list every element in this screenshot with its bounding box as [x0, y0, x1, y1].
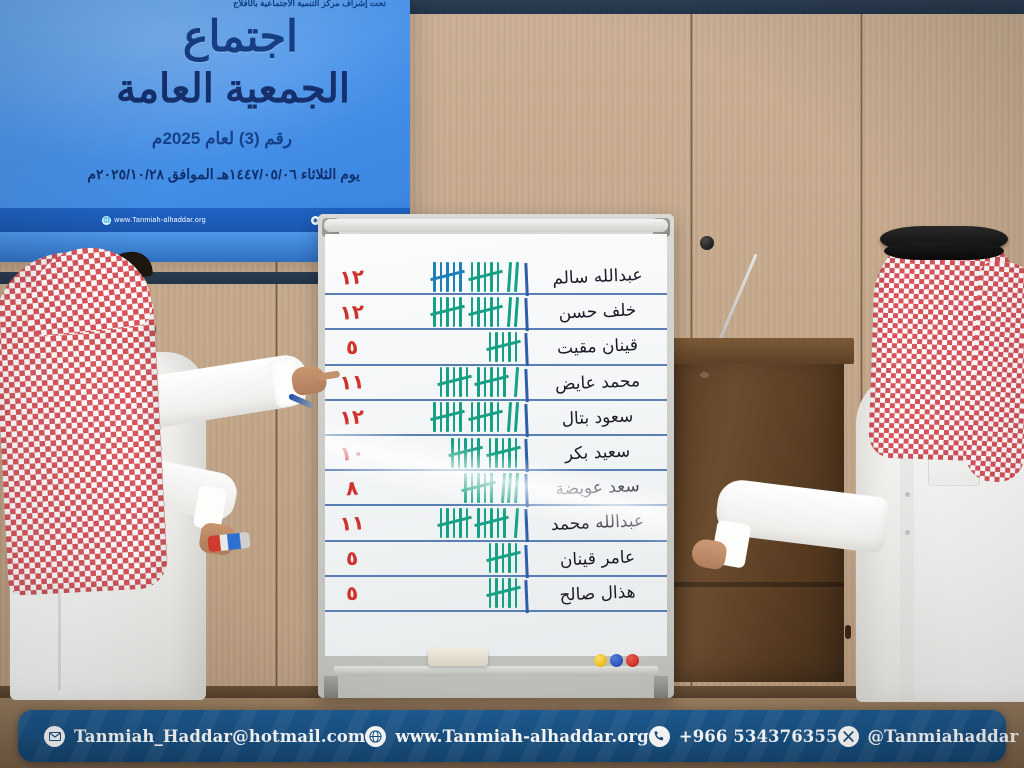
tally-person-name: سعود بتال [524, 398, 667, 437]
tally-stroke [503, 508, 506, 538]
tally-group-partial [508, 261, 517, 293]
tally-stroke [477, 262, 480, 292]
tally-count: ٨ [325, 474, 380, 502]
tally-row: ٥عامر قينان [325, 542, 667, 577]
tally-stroke [515, 543, 518, 573]
tally-stroke [484, 473, 487, 503]
blue-marker-cap[interactable] [610, 654, 623, 667]
tally-stroke [513, 297, 518, 327]
tally-person-name: خلف حسن [524, 292, 667, 331]
igal-headband [884, 242, 1004, 260]
tally-person-name: سعيد بكر [524, 433, 667, 472]
tally-person-name: عامر قينان [524, 539, 667, 578]
tally-stroke [489, 543, 492, 573]
tally-group-five [464, 472, 493, 504]
projection-subtitle: رقم (3) لعام 2025م [152, 129, 292, 149]
tally-stroke [464, 438, 467, 468]
tally-stroke [433, 297, 436, 327]
tally-count: ٥ [325, 580, 380, 608]
tally-group-partial [515, 366, 518, 398]
tally-row: ٥هذال صالح [325, 577, 667, 612]
tally-stroke [446, 402, 449, 432]
tally-stroke [477, 402, 480, 432]
tally-stroke [508, 438, 511, 468]
tally-stroke [497, 508, 500, 538]
tally-stroke [459, 297, 462, 327]
tally-stroke [507, 402, 512, 432]
tally-stroke [490, 402, 493, 432]
tally-count: ١٢ [325, 263, 380, 291]
tally-group-partial [515, 507, 518, 539]
yellow-marker-cap[interactable] [594, 654, 607, 667]
tally-group-five [440, 507, 469, 539]
tally-stroke [495, 332, 498, 362]
footer-contact-website[interactable]: www.Tanmiah-alhaddar.org [365, 726, 648, 747]
email-icon [44, 726, 65, 747]
tally-stroke [466, 367, 469, 397]
tally-stroke [513, 262, 518, 292]
tally-person-name: سعد عويضة [524, 468, 667, 507]
tally-stroke [515, 438, 518, 468]
tally-stroke [490, 297, 493, 327]
tally-stroke [489, 578, 492, 608]
tally-group-five [471, 296, 500, 328]
tally-person-name: عبدالله محمد [524, 503, 667, 542]
tally-stroke [513, 508, 518, 538]
globe-icon [365, 726, 386, 747]
tally-stroke [489, 438, 492, 468]
tally-group-five [433, 296, 462, 328]
tally-marks [379, 471, 525, 504]
tally-stroke [477, 473, 480, 503]
tally-stroke [508, 332, 511, 362]
tally-stroke [440, 367, 443, 397]
tally-stroke [453, 262, 456, 292]
podium-shelf [672, 582, 844, 587]
tally-stroke [502, 438, 505, 468]
podium-top [664, 338, 854, 364]
tally-stroke [471, 262, 474, 292]
tally-group-five [451, 437, 480, 469]
tally-stroke [477, 367, 480, 397]
whiteboard-marker-tray [334, 666, 658, 676]
tally-stroke [484, 297, 487, 327]
tally-group-five [433, 261, 462, 293]
tally-stroke [502, 578, 505, 608]
whiteboard: ١٢عبدالله سالم١٢خلف حسن٥قينان مقيت١١محمد… [318, 214, 674, 698]
tally-stroke [500, 473, 505, 503]
tally-stroke [495, 578, 498, 608]
tally-stroke [507, 473, 512, 503]
tally-stroke [513, 473, 518, 503]
tally-stroke [446, 508, 449, 538]
tally-stroke [471, 473, 474, 503]
tally-group-five [471, 401, 500, 433]
tally-stroke [464, 473, 467, 503]
tally-group-partial [508, 401, 517, 433]
tally-stroke [490, 262, 493, 292]
whiteboard-leg [324, 676, 338, 698]
tally-count: ٥ [325, 544, 380, 572]
tally-group-five [433, 401, 462, 433]
projection-contact-website: 🌐 www.Tanmiah-alhaddar.org [102, 216, 206, 225]
tally-stroke [503, 367, 506, 397]
tally-stroke [471, 402, 474, 432]
projection-title-line1: اجتماع [183, 12, 298, 62]
tally-group-partial [502, 472, 518, 504]
tally-stroke [477, 438, 480, 468]
footer-contact-x[interactable]: @Tanmiahaddar [838, 726, 1019, 747]
tally-table: ١٢عبدالله سالم١٢خلف حسن٥قينان مقيت١١محمد… [325, 260, 667, 612]
whiteboard-eraser[interactable] [428, 648, 488, 666]
tally-stroke [513, 367, 518, 397]
tally-group-five [489, 577, 518, 609]
tally-stroke [497, 297, 500, 327]
tally-count: ١٠ [325, 439, 380, 467]
tally-stroke [446, 262, 449, 292]
thobe-button [905, 530, 910, 535]
tally-stroke [459, 367, 462, 397]
thobe-button [905, 492, 910, 497]
meeting-room-photo: تحت إشراف مركز التنمية الاجتماعية بالأفل… [0, 0, 1024, 768]
tally-group-five [477, 366, 506, 398]
tally-group-five [477, 507, 506, 539]
tally-group-five [471, 261, 500, 293]
x-icon [838, 726, 859, 747]
tally-count: ١٢ [325, 404, 380, 432]
tally-stroke [484, 367, 487, 397]
tally-marks [379, 330, 525, 363]
footer-email-text: Tanmiah_Haddar@hotmail.com [74, 727, 365, 746]
tally-stroke [490, 508, 493, 538]
tally-stroke [497, 262, 500, 292]
projection-website-text: www.Tanmiah-alhaddar.org [114, 217, 206, 224]
tally-stroke [507, 262, 512, 292]
tally-stroke [490, 473, 493, 503]
microphone-icon [700, 236, 714, 250]
tally-marks [379, 506, 525, 539]
tally-stroke [508, 578, 511, 608]
tally-row: ١١عبدالله محمد [325, 506, 667, 541]
whiteboard-top-rail [324, 219, 668, 232]
tally-stroke [459, 262, 462, 292]
tally-count: ١٢ [325, 298, 380, 326]
footer-phone-text: +966 534376355 [679, 727, 838, 746]
tally-stroke [459, 402, 462, 432]
tally-count: ٥ [325, 333, 380, 361]
tally-marks [379, 577, 525, 610]
tally-stroke [502, 543, 505, 573]
whiteboard-surface: ١٢عبدالله سالم١٢خلف حسن٥قينان مقيت١١محمد… [325, 234, 667, 656]
tally-row: ١٢عبدالله سالم [325, 260, 667, 295]
tally-stroke [497, 367, 500, 397]
tally-marks [379, 542, 525, 575]
tally-stroke [495, 543, 498, 573]
tally-stroke [513, 402, 518, 432]
tally-row: ١٢سعود بتال [325, 401, 667, 436]
tally-stroke [477, 297, 480, 327]
tally-stroke [471, 297, 474, 327]
tally-group-five [489, 437, 518, 469]
tally-stroke [477, 508, 480, 538]
tally-stroke [440, 297, 443, 327]
tally-stroke [489, 332, 492, 362]
tally-marks [379, 260, 525, 293]
tally-stroke [484, 508, 487, 538]
globe-icon: 🌐 [102, 216, 111, 225]
tally-stroke [446, 297, 449, 327]
red-marker-cap[interactable] [626, 654, 639, 667]
tally-group-five [440, 366, 469, 398]
tally-marks [379, 436, 525, 469]
tally-row: ١٠سعيد بكر [325, 436, 667, 471]
contact-footer-bar: Tanmiah_Haddar@hotmail.com www.Tanmiah-a… [18, 710, 1006, 762]
tally-stroke [433, 262, 436, 292]
tally-stroke [440, 402, 443, 432]
tally-person-name: محمد عايض [524, 363, 667, 402]
podium-knob [700, 372, 709, 378]
tally-stroke [515, 332, 518, 362]
tally-stroke [459, 508, 462, 538]
footer-contact-phone[interactable]: +966 534376355 [649, 726, 838, 747]
tally-stroke [451, 438, 454, 468]
footer-contact-email[interactable]: Tanmiah_Haddar@hotmail.com [44, 726, 365, 747]
podium-lock [845, 625, 851, 639]
tally-group-five [489, 542, 518, 574]
tally-stroke [453, 402, 456, 432]
tally-stroke [466, 508, 469, 538]
tally-stroke [502, 332, 505, 362]
tally-stroke [471, 438, 474, 468]
tally-row: ٨سعد عويضة [325, 471, 667, 506]
tally-stroke [484, 402, 487, 432]
tally-stroke [497, 402, 500, 432]
footer-x-handle-text: @Tanmiahaddar [868, 727, 1019, 746]
footer-website-text: www.Tanmiah-alhaddar.org [395, 727, 648, 746]
tally-group-partial [508, 296, 517, 328]
tally-stroke [484, 262, 487, 292]
phone-icon [649, 726, 670, 747]
tally-stroke [508, 543, 511, 573]
tally-person-name: عبدالله سالم [524, 257, 667, 296]
tally-stroke [458, 438, 461, 468]
tally-stroke [440, 508, 443, 538]
tally-stroke [440, 262, 443, 292]
tally-stroke [515, 578, 518, 608]
projection-title-line2: الجمعية العامة [116, 66, 350, 112]
tally-marks [379, 366, 525, 399]
tally-stroke [453, 297, 456, 327]
tally-count: ١١ [325, 509, 380, 537]
projection-supervisor-line: تحت إشراف مركز التنمية الاجتماعية بالأفل… [233, 0, 386, 9]
tally-person-name: قينان مقيت [524, 327, 667, 366]
tally-stroke [433, 402, 436, 432]
tally-stroke [453, 367, 456, 397]
tally-row: ١١محمد عايض [325, 366, 667, 401]
tally-marks [379, 401, 525, 434]
tally-stroke [507, 297, 512, 327]
tally-stroke [453, 508, 456, 538]
tally-person-name: هذال صالح [524, 574, 667, 613]
tally-group-five [489, 331, 518, 363]
whiteboard-leg [654, 676, 668, 698]
tally-marks [379, 295, 525, 328]
projection-date: يوم الثلاثاء ١٤٤٧/٠٥/٠٦هـ الموافق ٢٠٢٥/١… [87, 166, 360, 183]
tally-row: ١٢خلف حسن [325, 295, 667, 330]
tally-stroke [446, 367, 449, 397]
tally-stroke [490, 367, 493, 397]
tally-row: ٥قينان مقيت [325, 330, 667, 365]
tally-stroke [495, 438, 498, 468]
